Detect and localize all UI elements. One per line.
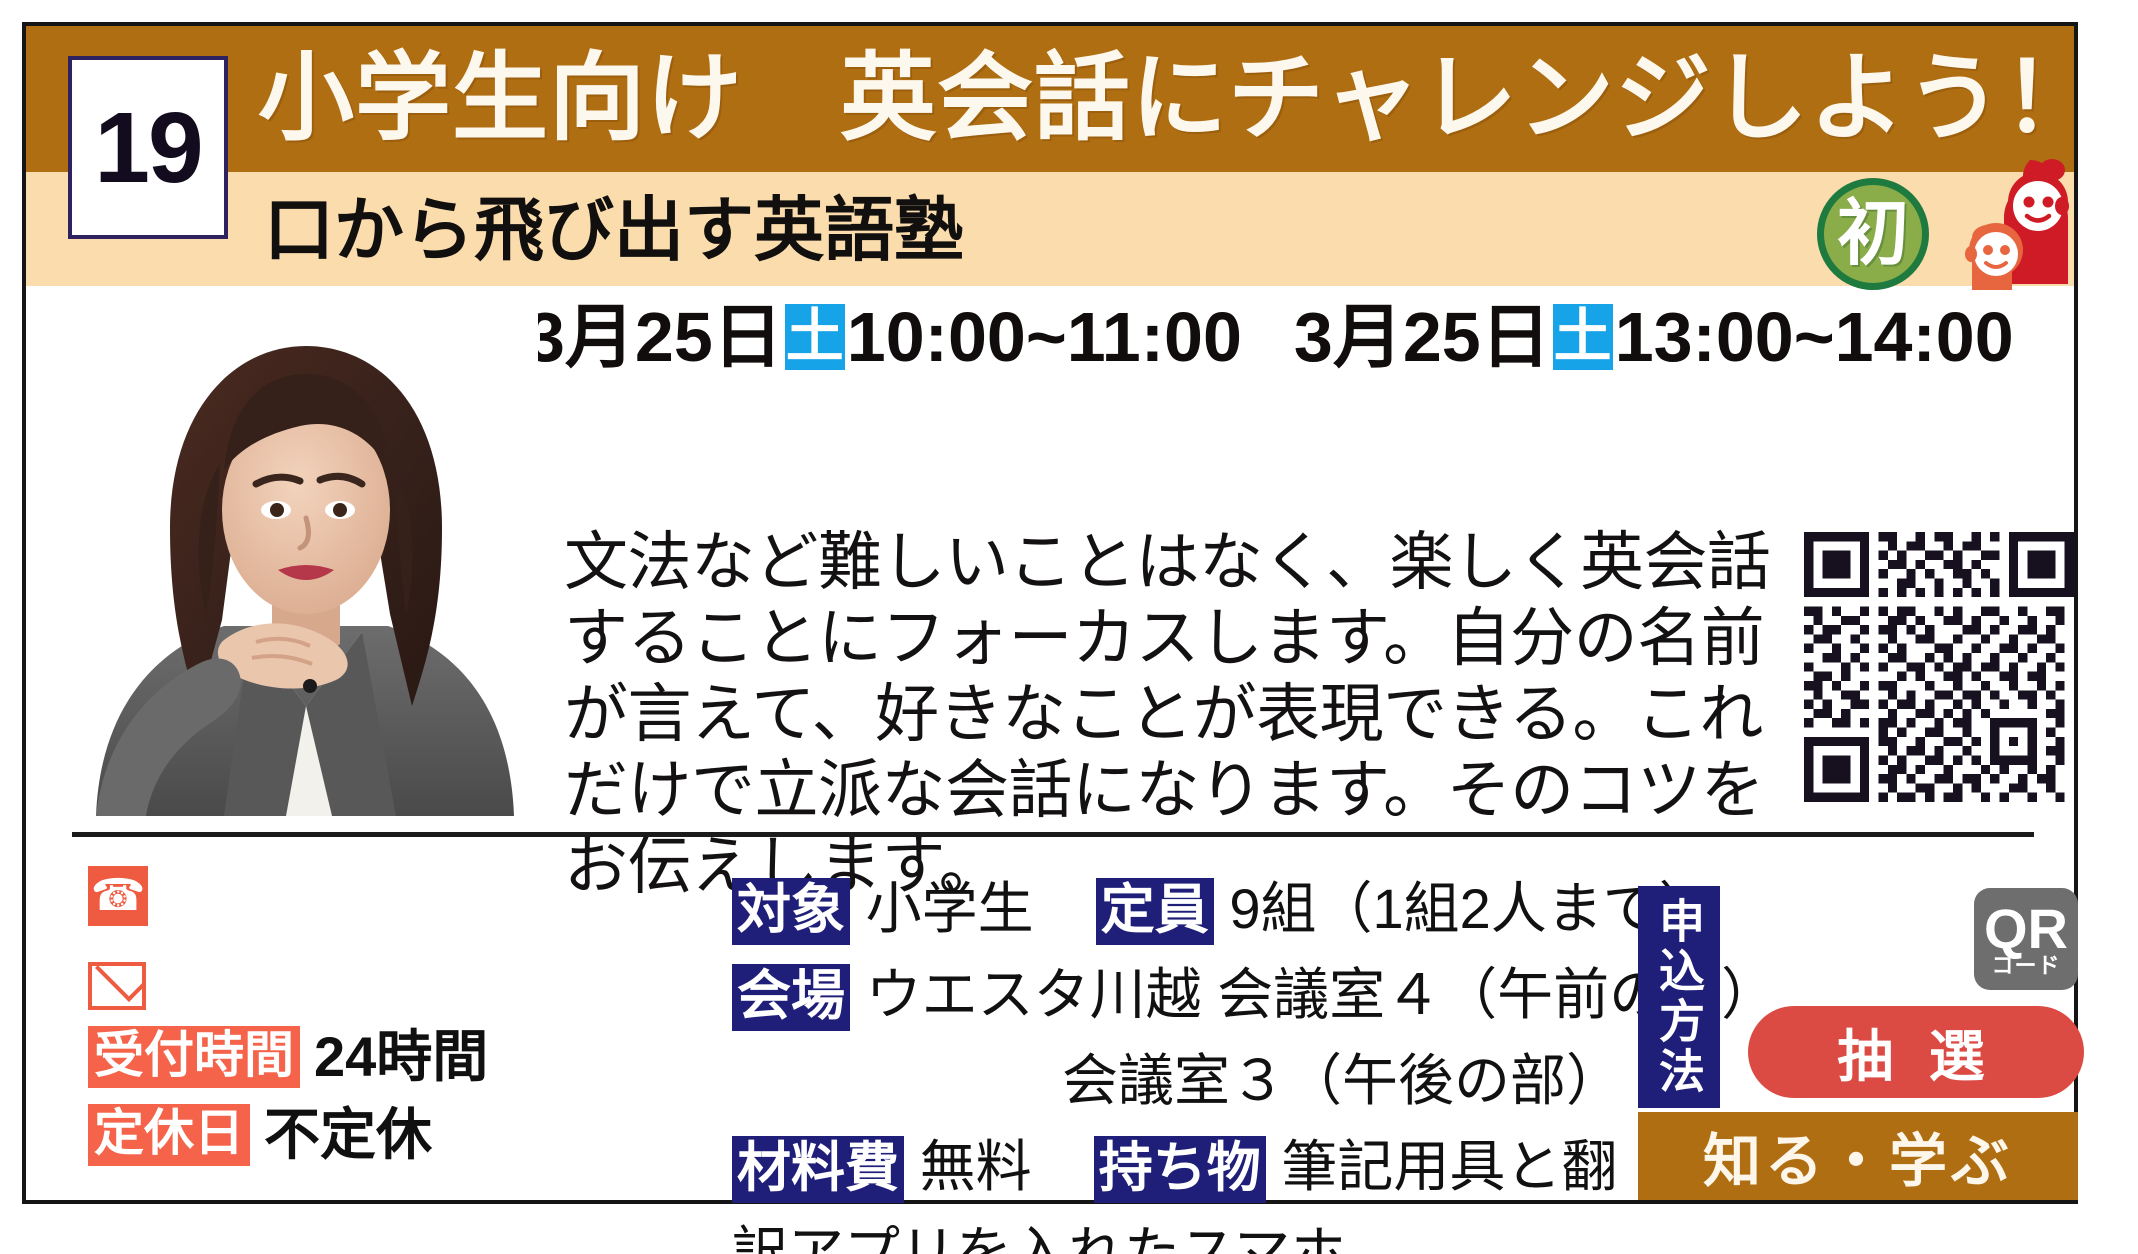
reception-hours-value: 24時間 [314,1028,488,1087]
page-title: 小学生向け 英会話にチャレンジしよう！ [258,40,2100,158]
fee-value: 無料 [920,1135,1032,1198]
event-number-badge: 19 [68,56,228,239]
closed-days-label: 定休日 [88,1104,250,1166]
target-value: 小学生 [866,877,1034,940]
level-badge: 初 [1817,178,1929,290]
qr-code[interactable] [1804,532,2074,802]
bring-value: 筆記用具と翻 [1281,1135,1617,1198]
qr-code-tag: QR コード [1974,888,2078,990]
closed-days-value: 不定休 [264,1106,432,1165]
session-2-date: 3月25日 [1294,302,1551,372]
envelope-icon [88,962,146,1010]
instructor-portrait [74,314,538,816]
closed-days-row: 定休日 不定休 [88,1104,668,1166]
target-capacity-row: 対象 小学生 定員 9組（1組2人まで） [732,866,1632,952]
session-1: 3月25日 土 10:00~11:00 [526,302,1242,372]
bring-label: 持ち物 [1094,1136,1266,1203]
reception-hours-label: 受付時間 [88,1026,300,1088]
details-block: 対象 小学生 定員 9組（1組2人まで） 会場 ウエスタ川越 会議室４（午前の部… [732,866,1632,1254]
lottery-badge: 抽 選 [1748,1006,2084,1098]
apply-method-label: 申込方法 [1638,886,1720,1108]
section-divider [72,832,2034,837]
category-badge: 知る・学ぶ [1638,1112,2078,1200]
event-card: 小学生向け 英会話にチャレンジしよう！ 口から飛び出す英語塾 19 初 [22,22,2078,1204]
qr-tag-main: QR [1984,903,2068,955]
schedule-line: 3月25日 土 10:00~11:00 3月25日 土 13:00~14:00 [526,290,2006,384]
event-number: 19 [94,98,201,198]
target-label: 対象 [732,878,850,945]
flyer-page: 小学生向け 英会話にチャレンジしよう！ 口から飛び出す英語塾 19 初 [0,0,2138,1254]
bring-value-second: 訳アプリを入れたスマホ [732,1210,1632,1254]
session-1-dow-badge: 土 [785,304,845,370]
contact-block: ☎ 受付時間 24時間 定休日 不定休 [88,866,668,1166]
venue-value-second: 会議室３（午後の部） [732,1038,1632,1124]
capacity-label: 定員 [1096,878,1214,945]
session-1-time: 10:00~11:00 [847,302,1242,372]
qr-tag-sub: コード [1991,955,2060,977]
session-2-dow-badge: 土 [1553,304,1613,370]
venue-label: 会場 [732,964,850,1031]
level-badge-label: 初 [1837,198,1909,270]
page-subtitle: 口から飛び出す英語塾 [264,184,964,276]
venue-row: 会場 ウエスタ川越 会議室４（午前の部） [732,952,1632,1038]
parent-child-icon [1956,154,2096,290]
session-1-date: 3月25日 [526,302,783,372]
session-2-time: 13:00~14:00 [1615,302,2014,372]
event-description: 文法など難しいことはなく、楽しく英会話することにフォーカスします。自分の名前が言… [564,524,1780,904]
telephone-icon: ☎ [88,866,148,926]
reception-hours-row: 受付時間 24時間 [88,1026,668,1088]
fee-label: 材料費 [732,1136,904,1203]
fee-bring-row: 材料費 無料 持ち物 筆記用具と翻 [732,1124,1632,1210]
session-2: 3月25日 土 13:00~14:00 [1294,302,2014,372]
